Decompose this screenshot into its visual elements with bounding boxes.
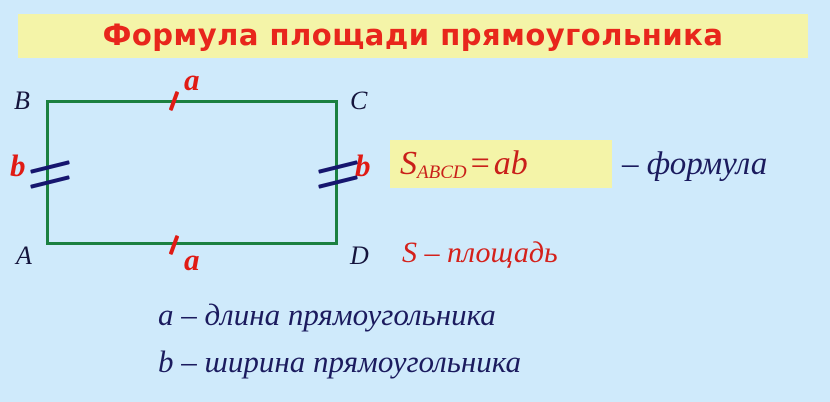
slide-canvas: Формула площади прямоугольника B C A D a… [0, 0, 830, 402]
vertex-label-b: B [14, 88, 30, 114]
formula-caption: – формула [622, 142, 767, 186]
legend-line-s: S – площадь [402, 236, 558, 271]
legend-line-b: b – ширина прямоугольника [158, 344, 521, 380]
formula-subscript: ABCD [417, 162, 467, 183]
rectangle-shape [46, 100, 338, 245]
formula-symbol: S [400, 145, 417, 182]
legend-line-a: a – длина прямоугольника [158, 297, 496, 333]
vertex-label-a: A [16, 243, 32, 269]
side-label-a-top: a [184, 64, 200, 95]
page-title: Формула площади прямоугольника [18, 14, 808, 58]
vertex-label-c: C [350, 88, 367, 114]
side-label-b-left: b [10, 150, 26, 181]
vertex-label-d: D [350, 243, 369, 269]
area-formula: SABCD=ab [400, 142, 528, 195]
formula-equals: = [467, 145, 494, 182]
side-label-a-bottom: a [184, 244, 200, 275]
formula-expression: ab [494, 145, 528, 182]
title-banner: Формула площади прямоугольника [18, 14, 808, 58]
